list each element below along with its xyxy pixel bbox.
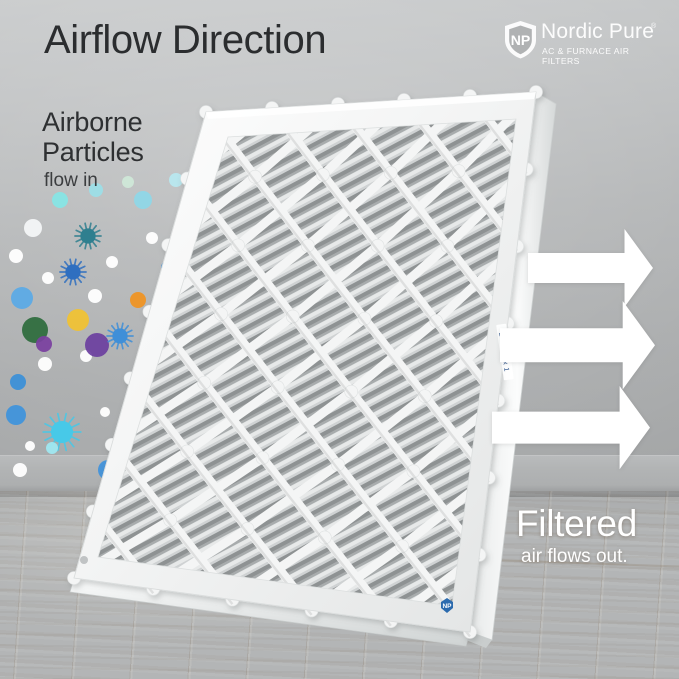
filtered-caption-line2: air flows out.	[521, 546, 628, 568]
airflow-arrow-top-shape	[528, 229, 653, 307]
airflow-arrow-middle-shape	[500, 301, 655, 389]
airflow-arrow-bottom	[492, 386, 650, 469]
airborne-caption-line2: Particles	[42, 137, 144, 168]
airflow-arrow-middle	[500, 301, 655, 389]
product-infographic: 20 x 20 x 1 NP Airflow Direction Airborn…	[0, 0, 679, 679]
brand-tagline: AC & FURNACE AIR FILTERS	[542, 46, 663, 66]
airborne-caption-sub: flow in	[44, 170, 98, 192]
np-shield-icon: NP	[503, 20, 539, 60]
brand-logo[interactable]: NP Nordic Pure ® AC & FURNACE AIR FILTER…	[503, 22, 663, 62]
airflow-arrow-bottom-shape	[492, 386, 650, 469]
svg-text:NP: NP	[442, 603, 452, 610]
page-title: Airflow Direction	[44, 18, 326, 63]
filtered-caption-line1: Filtered	[516, 503, 637, 545]
brand-registered-mark: ®	[651, 23, 656, 30]
airborne-caption-line1: Airborne	[42, 107, 142, 138]
airflow-arrow-top	[528, 229, 653, 307]
filter-corner-mark-left	[80, 556, 88, 564]
svg-text:NP: NP	[511, 32, 530, 48]
brand-name: Nordic Pure	[541, 20, 654, 44]
